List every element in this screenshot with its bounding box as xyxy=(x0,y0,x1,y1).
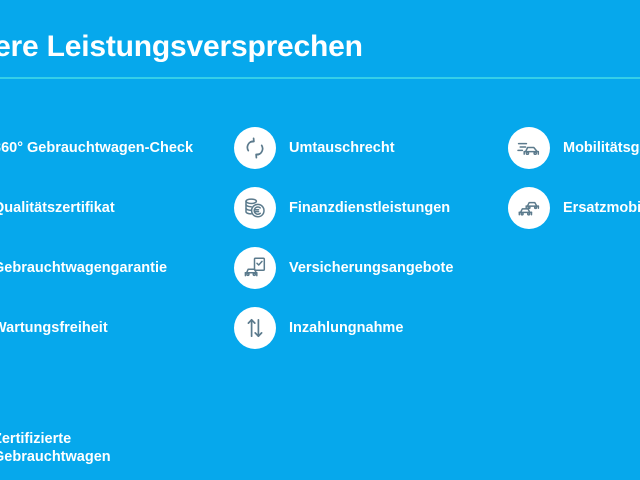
list-item-label: Umtauschrecht xyxy=(289,140,395,157)
list-item[interactable]: Umtauschrecht xyxy=(234,118,504,178)
exchange-arrows-icon xyxy=(234,127,276,169)
list-item-label: Qualitätszertifikat xyxy=(0,200,115,217)
list-item[interactable]: 360° Gebrauchtwagen-Check xyxy=(0,118,208,178)
page-title: Unsere Leistungsversprechen xyxy=(0,30,640,64)
coins-euro-icon xyxy=(234,187,276,229)
list-item-label: Ersatzmobilität xyxy=(563,200,640,217)
list-item[interactable]: Versicherungsangebote xyxy=(234,238,504,298)
list-item-label: 360° Gebrauchtwagen-Check xyxy=(0,140,193,157)
list-item[interactable]: Ersatzmobilität xyxy=(508,178,640,238)
moving-car-icon xyxy=(508,127,550,169)
list-item-label: Gebrauchtwagengarantie xyxy=(0,260,167,277)
list-item-label: Finanzdienstleistungen xyxy=(289,200,450,217)
list-item-label: Wartungsfreiheit xyxy=(0,320,108,337)
slide-canvas: Unsere Leistungsversprechen xyxy=(0,0,640,480)
list-item-label: Inzahlungnahme xyxy=(289,320,403,337)
list-item[interactable]: Zertifizierte Gebrauchtwagen xyxy=(0,418,208,478)
list-item-label: Mobilitätsgarantie xyxy=(563,140,640,157)
two-cars-icon xyxy=(508,187,550,229)
up-down-arrows-icon xyxy=(234,307,276,349)
list-item[interactable]: Wartungsfreiheit xyxy=(0,298,208,358)
list-item[interactable]: Mobilitätsgarantie xyxy=(508,118,640,178)
benefits-column-left: 360° Gebrauchtwagen-Check Qualitätszerti… xyxy=(0,118,208,478)
list-item-label: Versicherungsangebote xyxy=(289,260,453,277)
list-item[interactable]: Qualitätszertifikat xyxy=(0,178,208,238)
car-checklist-icon xyxy=(234,247,276,289)
list-item-label: Zertifizierte Gebrauchtwagen xyxy=(0,430,111,466)
title-divider xyxy=(0,77,640,79)
list-item[interactable]: Inzahlungnahme xyxy=(234,298,504,358)
list-item[interactable]: Finanzdienstleistungen xyxy=(234,178,504,238)
benefits-column-middle: Umtauschrecht xyxy=(234,118,504,358)
list-item[interactable]: Gebrauchtwagengarantie xyxy=(0,238,208,298)
slide-viewport: Unsere Leistungsversprechen xyxy=(0,0,640,480)
benefits-column-right: Mobilitätsgarantie xyxy=(508,118,640,238)
